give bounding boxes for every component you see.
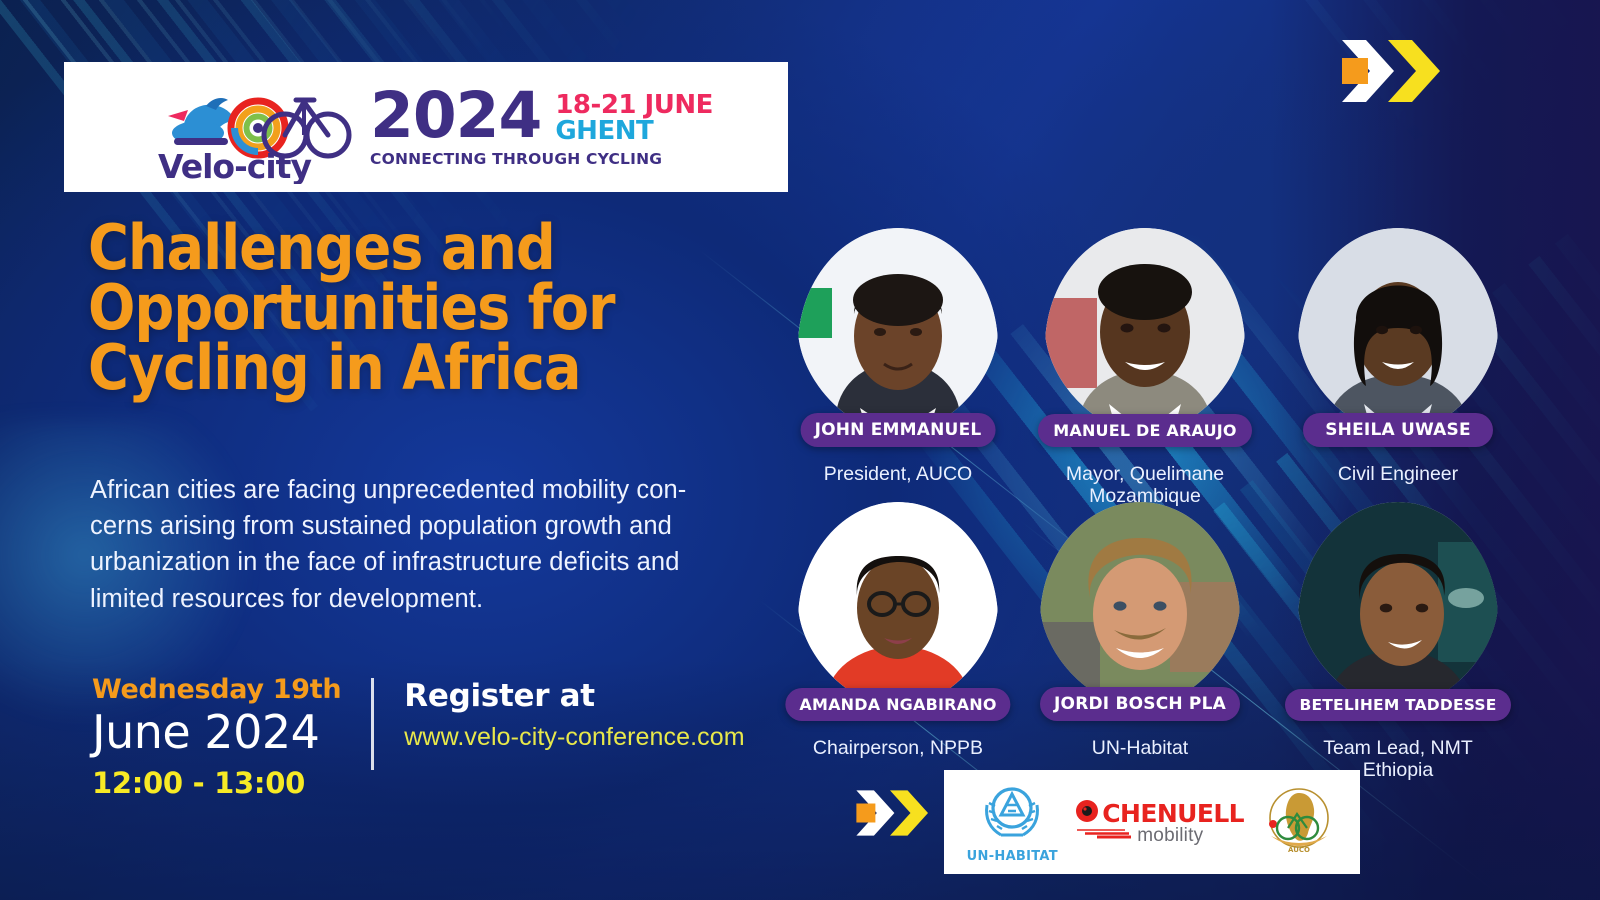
speaker-card: MANUEL DE ARAUJO Mayor, Quelimane Mozamb…: [1035, 228, 1255, 507]
speaker-photo-frame: JOHN EMMANUEL: [798, 228, 998, 433]
speaker-photo-frame: MANUEL DE ARAUJO: [1045, 228, 1245, 433]
avatar: [798, 502, 998, 707]
velo-city-snail-bicycle-icon: Velo-city: [154, 72, 354, 182]
logo-city: GHENT: [555, 118, 713, 144]
double-chevron-icon-top-right: [1336, 36, 1440, 111]
logo-tagline: CONNECTING THROUGH CYCLING: [370, 150, 713, 168]
avatar: [1040, 502, 1240, 707]
sponsor-name: UN-HABITAT: [967, 849, 1058, 864]
sponsor-un-habitat: UN-HABITAT: [967, 781, 1058, 864]
un-habitat-logo-icon: [975, 781, 1049, 848]
speaker-card: BETELIHEM TADDESSE Team Lead, NMT Ethiop…: [1288, 502, 1508, 781]
description-paragraph: African cities are facing unprecedented …: [90, 472, 710, 617]
svg-text:Velo-city: Velo-city: [158, 147, 311, 184]
avatar: [1298, 228, 1498, 433]
registration-block: Register at www.velo-city-conference.com: [404, 676, 744, 752]
event-datetime: Wednesday 19th June 2024 12:00 - 13:00: [92, 676, 341, 798]
event-day: Wednesday 19th: [92, 676, 341, 703]
avatar: [798, 228, 998, 433]
speaker-role: Civil Engineer: [1288, 463, 1508, 485]
event-time: 12:00 - 13:00: [92, 769, 341, 798]
velo-city-logo-text: 2024 18-21 JUNE GHENT CONNECTING THROUGH…: [370, 86, 713, 168]
speaker-role: Chairperson, NPPB: [788, 737, 1008, 759]
logo-dates: 18-21 JUNE: [555, 92, 713, 118]
sponsor-name: CHENUELL: [1102, 801, 1244, 826]
poster-canvas: Velo-city 2024 18-21 JUNE GHENT CONNECTI…: [0, 0, 1600, 900]
avatar: [1298, 502, 1498, 707]
sponsor-subtitle: mobility: [1137, 826, 1203, 845]
headline-line-1: Challenges and: [88, 218, 646, 278]
speaker-name-badge: JOHN EMMANUEL: [801, 413, 996, 447]
speaker-role: UN-Habitat: [1030, 737, 1250, 759]
sponsor-logo-bar: UN-HABITAT CHENUELL: [944, 770, 1360, 874]
velo-city-logo-bar: Velo-city 2024 18-21 JUNE GHENT CONNECTI…: [64, 62, 788, 192]
speaker-name-badge: BETELIHEM TADDESSE: [1285, 689, 1511, 721]
chenuell-mark-icon: [1075, 799, 1099, 828]
speed-lines-icon: [1075, 826, 1133, 845]
sponsor-auco: AUCO: [1261, 784, 1337, 861]
speaker-photo-frame: BETELIHEM TADDESSE: [1298, 502, 1498, 707]
svg-text:AUCO: AUCO: [1288, 846, 1310, 854]
event-details: Wednesday 19th June 2024 12:00 - 13:00 R…: [92, 676, 745, 798]
page-title: Challenges and Opportunities for Cycling…: [88, 218, 646, 398]
speaker-card: SHEILA UWASE Civil Engineer: [1288, 228, 1508, 485]
register-label: Register at: [404, 678, 744, 714]
speaker-role: President, AUCO: [788, 463, 1008, 485]
registration-url[interactable]: www.velo-city-conference.com: [404, 723, 744, 752]
speaker-card: JORDI BOSCH PLA UN-Habitat: [1030, 502, 1250, 759]
avatar: [1045, 228, 1245, 433]
speaker-photo-frame: SHEILA UWASE: [1298, 228, 1498, 433]
sponsor-chenuell: CHENUELL mobility: [1075, 799, 1244, 845]
speaker-photo-frame: JORDI BOSCH PLA: [1040, 502, 1240, 707]
double-chevron-icon-bottom: [852, 787, 928, 844]
auco-logo-icon: AUCO: [1261, 784, 1337, 861]
speaker-card: JOHN EMMANUEL President, AUCO: [788, 228, 1008, 485]
logo-year: 2024: [370, 86, 541, 146]
vertical-divider: [371, 678, 374, 770]
speaker-card: AMANDA NGABIRANO Chairperson, NPPB: [788, 502, 1008, 759]
speaker-name-badge: JORDI BOSCH PLA: [1040, 687, 1240, 721]
speaker-name-badge: MANUEL DE ARAUJO: [1038, 414, 1252, 447]
speaker-name-badge: SHEILA UWASE: [1303, 413, 1493, 447]
speaker-photo-frame: AMANDA NGABIRANO: [798, 502, 998, 707]
speaker-name-badge: AMANDA NGABIRANO: [785, 688, 1010, 721]
headline-line-3: Cycling in Africa: [88, 338, 646, 398]
headline-line-2: Opportunities for: [88, 278, 646, 338]
event-month: June 2024: [92, 709, 341, 755]
speaker-role: Mayor, Quelimane Mozambique: [1035, 463, 1255, 507]
